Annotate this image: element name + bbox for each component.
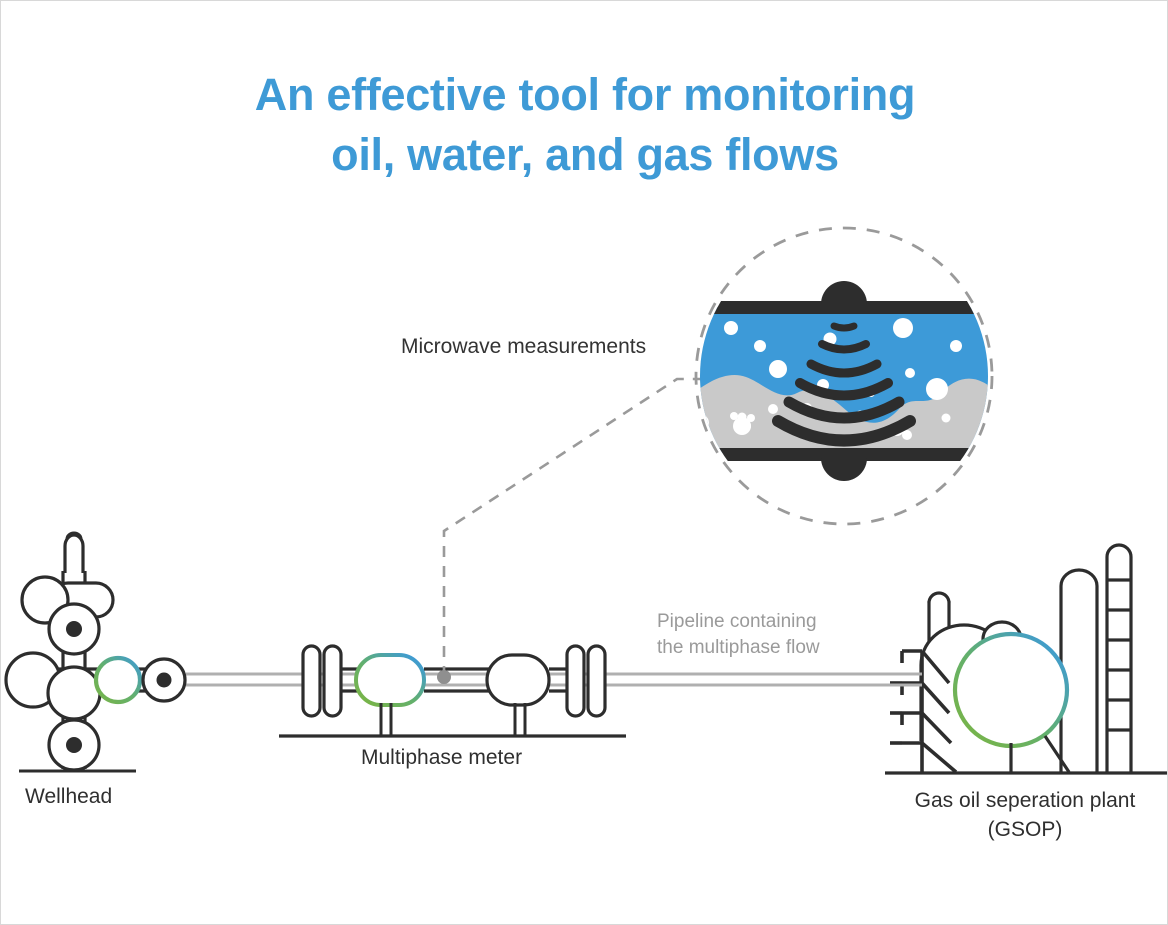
callout-anchor-dot — [437, 670, 451, 684]
meter-secondary-support — [515, 703, 525, 736]
label-gsop-line-2: (GSOP) — [988, 818, 1063, 841]
infographic-canvas: An effective tool for monitoring oil, wa… — [0, 0, 1168, 925]
gsop-sphere-tank — [955, 634, 1067, 746]
label-wellhead: Wellhead — [25, 785, 112, 809]
meter-sensor-body — [356, 655, 424, 705]
wellhead-assembly[interactable] — [6, 533, 185, 771]
meter-flange-right-inner — [567, 646, 584, 716]
antenna-bottom-icon — [821, 458, 867, 481]
wellhead-wing-valve-dot — [157, 673, 172, 688]
meter-spool-middle — [424, 669, 490, 691]
meter-flange-left-inner — [324, 646, 341, 716]
meter-sensor-support — [381, 703, 391, 736]
multiphase-meter-assembly[interactable] — [279, 646, 626, 736]
gsop-ladder-rungs — [1107, 580, 1131, 730]
label-gsop-line-1: Gas oil seperation plant — [915, 789, 1136, 812]
meter-secondary-body — [487, 655, 549, 705]
label-pipeline-line-1: Pipeline containing — [657, 611, 817, 632]
wellhead-upper-valve-dot — [66, 621, 82, 637]
meter-flange-left-outer — [303, 646, 320, 716]
meter-spool-right — [549, 669, 567, 691]
label-microwave-measurements: Microwave measurements — [401, 335, 646, 359]
wellhead-body-joint — [48, 667, 100, 719]
gsop-column — [1061, 570, 1097, 772]
gsop-facility[interactable] — [885, 545, 1168, 773]
wellhead-accent-ring — [96, 658, 140, 702]
meter-flange-right-outer — [588, 646, 605, 716]
wellhead-vent-cap — [65, 535, 83, 573]
pipeline — [186, 674, 921, 685]
gsop-ladder-tower — [1107, 545, 1131, 772]
antenna-top-icon — [821, 281, 867, 304]
wellhead-lower-valve-dot — [66, 737, 82, 753]
label-pipeline-line-2: the multiphase flow — [657, 637, 820, 658]
label-gsop: Gas oil seperation plant (GSOP) — [881, 786, 1168, 844]
label-pipeline: Pipeline containing the multiphase flow — [657, 609, 872, 661]
microwave-inset — [681, 228, 1011, 524]
inset-pipe-content — [682, 307, 997, 453]
label-multiphase-meter: Multiphase meter — [361, 746, 522, 770]
